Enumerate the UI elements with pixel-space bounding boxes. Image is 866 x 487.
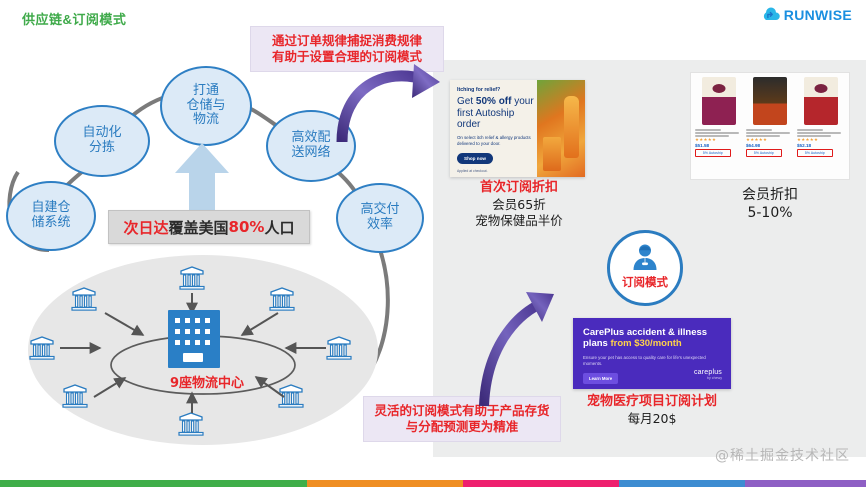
careplus-logo: careplus by chewy [694, 369, 722, 380]
ad-autoship-shop-button[interactable]: Shop now [457, 153, 493, 164]
ad-careplus-headline: CarePlus accident & illnessplans from $3… [583, 327, 721, 350]
node-automation-label: 自动化分拣 [82, 126, 121, 155]
curved-arrow-top-icon [330, 58, 448, 144]
product-grid-card[interactable]: ★★★★★ $51.58 5% Autoship ★★★★★ $64.98 5%… [690, 72, 850, 180]
ad-autoship-head-pre: Get [457, 96, 476, 107]
ad-autoship-hook: Itching for relief? [457, 87, 538, 93]
callout-bottom-line2: 与分配预测更为精准 [406, 419, 519, 436]
product-item[interactable]: ★★★★★ $52.18 5% Autoship [797, 77, 845, 175]
brand-name: RUNWISE [784, 7, 852, 23]
product-meta: ★★★★★ $51.58 5% Autoship [695, 128, 743, 157]
ad-autoship-headline: Get 50% off yourfirst Autoship order [457, 96, 538, 131]
office-building-icon [168, 310, 220, 368]
ad-careplus-sub: Ensure your pet has access to quality ca… [583, 355, 721, 367]
caption-autoship-title: 首次订阅折扣 [449, 180, 589, 197]
product-bottle-icon [564, 96, 579, 158]
product-bag-icon [804, 77, 838, 125]
strip-segment-4 [619, 480, 745, 487]
stat-part3: 80% [229, 218, 265, 236]
caption-member-line2: 5-10% [700, 204, 840, 222]
strip-segment-1 [0, 480, 307, 487]
ad-autoship-head-bold: 50% off [476, 96, 512, 107]
ad-autoship-copy: Itching for relief? Get 50% off yourfirs… [450, 80, 544, 177]
cp-head-amount: from $30/month [610, 338, 681, 349]
up-arrow-icon [171, 141, 233, 213]
slide-canvas: 供应链&订阅模式 RUNWISE 自建仓储系统 自动化分拣 打通仓储与物流 高效… [0, 0, 866, 487]
careplus-logo-main: careplus [694, 369, 722, 376]
subscription-node-label: 订阅模式 [622, 274, 668, 290]
product-autoship-badge[interactable]: 5% Autoship [695, 149, 731, 157]
node-delivery-efficiency-label: 高交付效率 [360, 203, 399, 232]
curved-arrow-bottom-icon [478, 288, 588, 410]
caption-careplus-plan: 宠物医疗项目订阅计划 每月20$ [570, 394, 734, 427]
product-price: $64.98 [746, 143, 794, 149]
node-subscription-model[interactable]: 订阅模式 [607, 230, 683, 306]
cp-head-line1: CarePlus accident & illness [583, 327, 707, 338]
caption-member-discount: 会员折扣 5-10% [700, 186, 840, 222]
product-item[interactable]: ★★★★★ $51.58 5% Autoship [695, 77, 743, 175]
callout-top-line1: 通过订单规律捕捉消费规律 [272, 33, 422, 50]
cp-head-line2-pre: plans [583, 338, 610, 349]
node-delivery-network-label: 高效配送网络 [291, 131, 330, 160]
product-tub-icon [543, 137, 561, 171]
strip-segment-5 [745, 480, 866, 487]
logistics-center-label: 9座物流中心 [148, 372, 266, 391]
ad-careplus-card[interactable]: CarePlus accident & illnessplans from $3… [573, 318, 731, 389]
product-meta: ★★★★★ $64.98 5% Autoship [746, 128, 794, 157]
node-self-warehouse-label: 自建仓储系统 [31, 201, 70, 230]
stat-banner: 次日达覆盖美国80%人口 [108, 210, 310, 244]
brand-logo: RUNWISE [761, 7, 852, 23]
ad-autoship-head-post: your [511, 96, 533, 107]
node-self-warehouse[interactable]: 自建仓储系统 [6, 181, 96, 251]
product-bag-icon [753, 77, 787, 125]
stat-part1: 次日达 [124, 217, 169, 238]
logistics-network-diagram [28, 255, 378, 445]
watermark: @稀土掘金技术社区 [715, 445, 850, 465]
product-item[interactable]: ★★★★★ $64.98 5% Autoship [746, 77, 794, 175]
caption-first-subscription-discount: 首次订阅折扣 会员65折 宠物保健品半价 [449, 180, 589, 229]
strip-segment-2 [307, 480, 463, 487]
stat-part2: 覆盖美国 [169, 217, 229, 238]
product-price: $51.58 [695, 143, 743, 149]
node-automation[interactable]: 自动化分拣 [54, 105, 150, 177]
cloud-arrow-icon [761, 7, 781, 23]
caption-autoship-line3: 宠物保健品半价 [449, 213, 589, 229]
node-open-logistics-label: 打通仓储与物流 [186, 84, 225, 128]
stat-part4: 人口 [264, 217, 294, 238]
person-avatar-icon [630, 242, 660, 272]
caption-member-title: 会员折扣 [700, 186, 840, 204]
product-autoship-badge[interactable]: 5% Autoship [746, 149, 782, 157]
product-autoship-badge[interactable]: 5% Autoship [797, 149, 833, 157]
ad-autoship-head-line2: first Autoship order [457, 108, 514, 131]
ad-autoship-sub: On select itch relief & allergy products… [457, 135, 538, 147]
node-open-logistics[interactable]: 打通仓储与物流 [160, 66, 252, 146]
product-price: $52.18 [797, 143, 845, 149]
product-bag-icon [702, 77, 736, 125]
caption-autoship-line2: 会员65折 [449, 197, 589, 213]
caption-careplus-title: 宠物医疗项目订阅计划 [570, 394, 734, 411]
ad-autoship-product-image [537, 80, 585, 177]
footer-color-strip [0, 480, 866, 487]
careplus-logo-sub: by chewy [694, 376, 722, 380]
node-delivery-efficiency[interactable]: 高交付效率 [336, 183, 424, 253]
ad-careplus-learn-more-button[interactable]: Learn More [583, 373, 618, 384]
caption-careplus-line2: 每月20$ [570, 411, 734, 427]
ad-autoship-fine-print: Applied at checkout. [457, 169, 538, 173]
ad-autoship-card[interactable]: Itching for relief? Get 50% off yourfirs… [450, 80, 585, 177]
strip-segment-3 [463, 480, 619, 487]
product-meta: ★★★★★ $52.18 5% Autoship [797, 128, 845, 157]
